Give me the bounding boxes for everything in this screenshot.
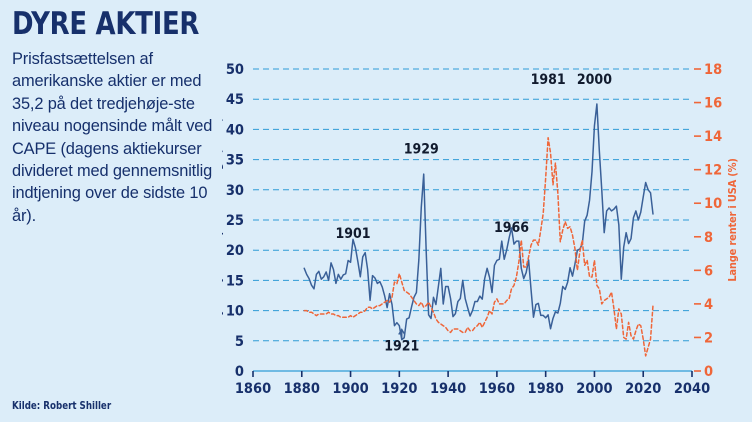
gridlines-group: [253, 69, 692, 371]
editorial-column: DYRE AKTIER Prisfastsættelsen af amerika…: [12, 8, 224, 414]
standfirst-text: Prisfastsættelsen af amerikanske aktier …: [12, 48, 218, 227]
chart-annotation: 1921: [384, 338, 419, 354]
right-axis-title: Lange renter i USA (%): [726, 158, 739, 281]
dual-axis-line-chart: 1860188019001920194019601980200020202040…: [222, 0, 752, 422]
x-tick-label: 1860: [235, 381, 271, 397]
left-axis-title: Cyklisk justeret price-earnings (CAPE): [222, 117, 224, 322]
y-tick-label-left: 30: [226, 183, 244, 199]
y-tick-label-left: 45: [226, 92, 244, 108]
tick-labels-group: 1860188019001920194019601980200020202040…: [226, 62, 722, 397]
y-tick-label-left: 5: [235, 334, 244, 350]
y-tick-label-right: 8: [704, 230, 713, 246]
infographic-root: DYRE AKTIER Prisfastsættelsen af amerika…: [0, 0, 752, 422]
x-tick-label: 1940: [430, 381, 466, 397]
chart-container: 1860188019001920194019601980200020202040…: [222, 0, 752, 422]
chart-annotation: 2000: [577, 72, 612, 88]
x-tick-label: 2040: [674, 381, 710, 397]
chart-annotation: 1901: [335, 226, 370, 242]
chart-annotation: 1966: [494, 220, 529, 236]
y-tick-label-left: 50: [226, 62, 244, 78]
y-tick-label-right: 18: [704, 62, 722, 78]
y-tick-label-right: 14: [704, 129, 722, 145]
source-credit: Kilde: Robert Shiller: [12, 400, 111, 412]
y-tick-label-right: 10: [704, 196, 722, 212]
chart-annotation: 1981: [531, 72, 566, 88]
x-tick-label: 1880: [284, 381, 320, 397]
axis-titles-group: Cyklisk justeret price-earnings (CAPE)La…: [222, 117, 739, 322]
y-tick-label-left: 10: [226, 304, 244, 320]
y-tick-label-right: 0: [704, 364, 713, 380]
y-tick-label-right: 12: [704, 163, 722, 179]
series-line-1: [304, 104, 653, 340]
x-tick-label: 2000: [576, 381, 612, 397]
y-tick-label-left: 25: [226, 213, 244, 229]
y-tick-label-left: 15: [226, 273, 244, 289]
y-tick-label-right: 4: [704, 297, 713, 313]
x-tick-label: 1920: [381, 381, 417, 397]
y-tick-label-right: 6: [704, 263, 713, 279]
y-tick-label-right: 2: [704, 330, 713, 346]
x-tick-label: 1960: [479, 381, 515, 397]
annotations-group: 190119291921196619812000: [335, 72, 612, 354]
y-tick-label-right: 16: [704, 96, 722, 112]
y-tick-label-left: 20: [226, 243, 244, 259]
x-tick-label: 1900: [332, 381, 368, 397]
y-tick-label-left: 0: [235, 364, 244, 380]
x-tick-label: 2020: [625, 381, 661, 397]
axes-group: [253, 69, 701, 377]
y-tick-label-left: 35: [226, 153, 244, 169]
y-tick-label-left: 40: [226, 122, 244, 138]
page-title: DYRE AKTIER: [12, 8, 209, 40]
chart-annotation: 1929: [404, 142, 439, 158]
x-tick-label: 1980: [528, 381, 564, 397]
